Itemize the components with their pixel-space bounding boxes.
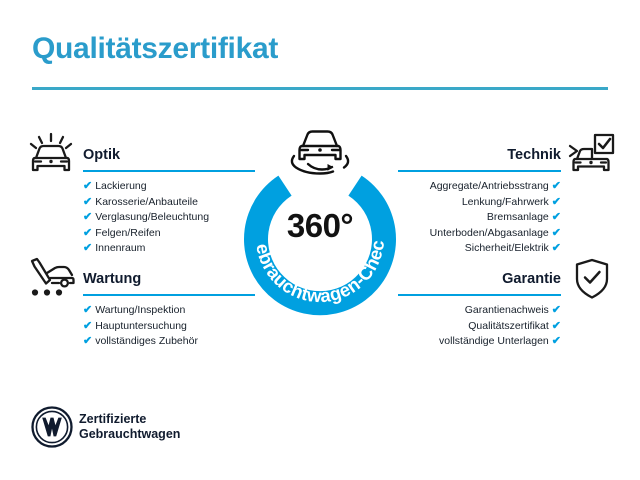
list-item-label: Innenraum (95, 242, 145, 254)
list-item: Lenkung/Fahrwerk✔ (398, 195, 561, 211)
check-icon: ✔ (83, 241, 92, 257)
check-icon: ✔ (552, 226, 561, 242)
list-item: ✔Felgen/Reifen (83, 226, 255, 242)
list-item: ✔Karosserie/Anbauteile (83, 195, 255, 211)
shield-check-icon (572, 257, 612, 306)
list-item-label: vollständiges Zubehör (95, 335, 198, 347)
list-item: vollständige Unterlagen✔ (398, 334, 561, 350)
section-list-technik: Aggregate/Antriebsstrang✔ Lenkung/Fahrwe… (398, 179, 561, 257)
check-icon: ✔ (552, 303, 561, 319)
list-item-label: Sicherheit/Elektrik (465, 242, 549, 254)
list-item: ✔vollständiges Zubehör (83, 334, 255, 350)
list-item: Qualitätszertifikat✔ (398, 319, 561, 335)
section-garantie: Garantie Garantienachweis✔ Qualitätszert… (398, 272, 561, 350)
footer-line-2: Gebrauchtwagen (79, 427, 180, 442)
section-heading-optik: Optik (83, 148, 255, 164)
list-item-label: Garantienachweis (465, 304, 549, 316)
section-technik: Technik Aggregate/Antriebsstrang✔ Lenkun… (398, 148, 561, 257)
list-item: Bremsanlage✔ (398, 210, 561, 226)
section-list-wartung: ✔Wartung/Inspektion ✔Hauptuntersuchung ✔… (83, 303, 255, 350)
list-item: Garantienachweis✔ (398, 303, 561, 319)
list-item-label: Felgen/Reifen (95, 227, 160, 239)
check-icon: ✔ (552, 210, 561, 226)
list-item: Sicherheit/Elektrik✔ (398, 241, 561, 257)
list-item-label: Karosserie/Anbauteile (95, 196, 198, 208)
car-rotation-icon (286, 126, 354, 178)
check-icon: ✔ (552, 319, 561, 335)
section-heading-garantie: Garantie (398, 272, 561, 288)
section-divider-optik (83, 170, 255, 172)
footer-text: Zertifizierte Gebrauchtwagen (79, 412, 180, 442)
badge-center-text: 360° (232, 207, 408, 245)
footer-line-1: Zertifizierte (79, 412, 180, 427)
car-shine-icon (26, 132, 76, 181)
section-list-optik: ✔Lackierung ✔Karosserie/Anbauteile ✔Verg… (83, 179, 255, 257)
list-item-label: Hauptuntersuchung (95, 320, 187, 332)
list-item: ✔Lackierung (83, 179, 255, 195)
check-icon: ✔ (83, 195, 92, 211)
check-icon: ✔ (552, 334, 561, 350)
list-item: ✔Wartung/Inspektion (83, 303, 255, 319)
check-icon: ✔ (552, 195, 561, 211)
list-item-label: Lackierung (95, 180, 146, 192)
list-item-label: Aggregate/Antriebsstrang (430, 180, 549, 192)
section-heading-technik: Technik (398, 148, 561, 164)
page-title: Qualitätszertifikat (32, 32, 278, 66)
check-icon: ✔ (83, 319, 92, 335)
car-checkbox-icon (566, 132, 616, 181)
list-item: Unterboden/Abgasanlage✔ (398, 226, 561, 242)
list-item: ✔Hauptuntersuchung (83, 319, 255, 335)
title-divider (32, 87, 608, 90)
check-icon: ✔ (83, 334, 92, 350)
section-heading-wartung: Wartung (83, 272, 255, 288)
section-optik: Optik ✔Lackierung ✔Karosserie/Anbauteile… (83, 148, 255, 257)
check-icon: ✔ (83, 210, 92, 226)
list-item-label: Lenkung/Fahrwerk (462, 196, 549, 208)
check-icon: ✔ (83, 303, 92, 319)
check-icon: ✔ (83, 226, 92, 242)
certificate-page: Qualitätszertifikat (0, 0, 640, 480)
list-item: ✔Verglasung/Beleuchtung (83, 210, 255, 226)
check-icon: ✔ (552, 241, 561, 257)
check-icon: ✔ (83, 179, 92, 195)
list-item-label: Bremsanlage (487, 211, 549, 223)
check-icon: ✔ (552, 179, 561, 195)
section-list-garantie: Garantienachweis✔ Qualitätszertifikat✔ v… (398, 303, 561, 350)
list-item-label: Wartung/Inspektion (95, 304, 185, 316)
section-divider-technik (398, 170, 561, 172)
section-divider-wartung (83, 294, 255, 296)
vw-logo-icon (31, 406, 73, 453)
list-item: Aggregate/Antriebsstrang✔ (398, 179, 561, 195)
list-item-label: Qualitätszertifikat (468, 320, 549, 332)
list-item-label: Unterboden/Abgasanlage (430, 227, 549, 239)
list-item: ✔Innenraum (83, 241, 255, 257)
list-item-label: Verglasung/Beleuchtung (95, 211, 209, 223)
section-wartung: Wartung ✔Wartung/Inspektion ✔Hauptunters… (83, 272, 255, 350)
car-wrench-icon (26, 256, 76, 305)
list-item-label: vollständige Unterlagen (439, 335, 549, 347)
section-divider-garantie (398, 294, 561, 296)
